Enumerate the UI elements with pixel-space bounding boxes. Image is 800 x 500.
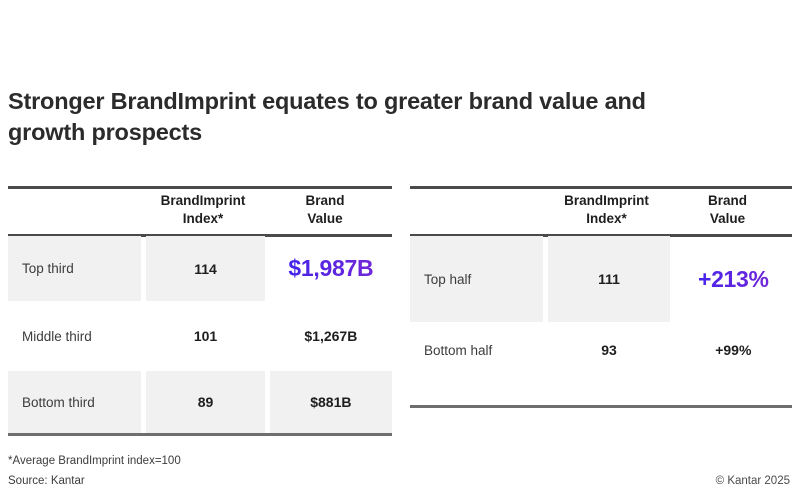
row-label: Top third — [8, 236, 141, 301]
row-index-value: 93 — [548, 322, 669, 404]
row-index-value: 89 — [146, 371, 264, 433]
row-label: Middle third — [8, 301, 141, 371]
table-top-rule — [8, 186, 392, 189]
copyright-notice: © Kantar 2025 — [716, 475, 790, 487]
row-label: Top half — [410, 236, 543, 322]
footnote-source: Source: Kantar — [8, 475, 85, 487]
footnote-average-index: *Average BrandImprint index=100 — [8, 455, 181, 467]
table-bottom-rule — [410, 405, 792, 408]
row-label: Bottom third — [8, 371, 141, 433]
brand-value-by-thirds-table: BrandImprint Index* Brand Value Top thir… — [8, 186, 392, 436]
column-header-brandimprint-index: BrandImprint Index* — [143, 192, 263, 234]
row-index-value: 114 — [146, 236, 264, 301]
row-brand-value: $1,987B — [270, 236, 392, 301]
column-header-brandimprint-index: BrandImprint Index* — [545, 192, 668, 234]
page-title: Stronger BrandImprint equates to greater… — [8, 86, 768, 149]
table-bottom-rule — [8, 433, 392, 436]
row-brand-value: $881B — [270, 371, 392, 433]
column-header-brand-value: Brand Value — [668, 192, 787, 234]
row-brand-value: +99% — [675, 322, 792, 404]
table-header-row: BrandImprint Index* Brand Value — [8, 186, 392, 234]
table-row: Top third 114 $1,987B — [8, 236, 392, 301]
row-index-value: 111 — [548, 236, 669, 322]
table-top-rule — [410, 186, 792, 189]
table-row: Top half 111 +213% — [410, 236, 792, 322]
row-label: Bottom half — [410, 322, 543, 404]
table-header-row: BrandImprint Index* Brand Value — [410, 186, 792, 234]
row-index-value: 101 — [146, 301, 264, 371]
table-row: Middle third 101 $1,267B — [8, 301, 392, 371]
row-brand-value: +213% — [675, 236, 792, 322]
brand-growth-by-halves-table: BrandImprint Index* Brand Value Top half… — [410, 186, 792, 408]
table-row: Bottom third 89 $881B — [8, 371, 392, 433]
column-header-brand-value: Brand Value — [263, 192, 387, 234]
row-brand-value: $1,267B — [270, 301, 392, 371]
table-row: Bottom half 93 +99% — [410, 322, 792, 404]
